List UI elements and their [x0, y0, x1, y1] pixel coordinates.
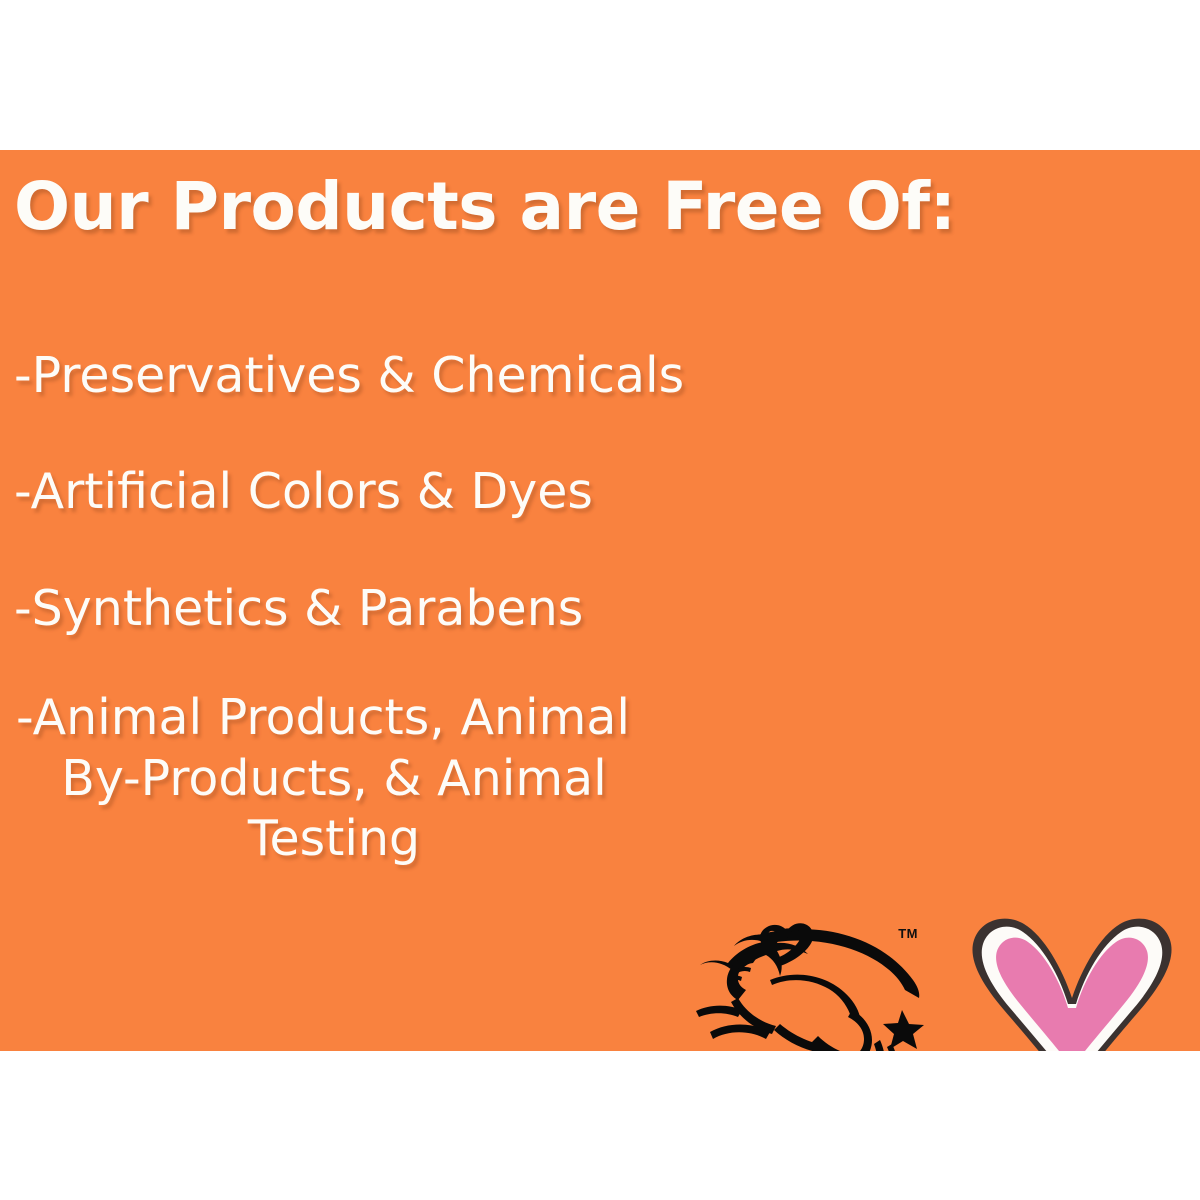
leaping-rabbit-icon [666, 918, 926, 1051]
list-item-line: By-Products, & Animal [14, 749, 654, 810]
list-item-line: Testing [14, 809, 654, 870]
list-item: -Animal Products, Animal By-Products, & … [14, 688, 654, 870]
list-item-line: -Animal Products, Animal [14, 688, 654, 749]
orange-promo-panel: Our Products are Free Of: -Preservatives… [0, 150, 1200, 1051]
bunny-face-heart-ears-icon [958, 912, 1186, 1051]
trademark-icon: TM [898, 926, 918, 941]
cruelty-free-international-logo: TM Cruelty Free INTERNATIONAL [666, 918, 926, 1051]
list-item: -Synthetics & Parabens [14, 579, 700, 638]
page-title: Our Products are Free Of: [14, 174, 1014, 240]
list-item: -Artificial Colors & Dyes [14, 462, 700, 521]
poster-canvas: Our Products are Free Of: -Preservatives… [0, 0, 1200, 1200]
free-of-list: -Preservatives & Chemicals -Artificial C… [0, 346, 700, 870]
cruelty-free-bunny-logo: crueltyfree [944, 912, 1200, 1051]
list-item: -Preservatives & Chemicals [14, 346, 700, 405]
